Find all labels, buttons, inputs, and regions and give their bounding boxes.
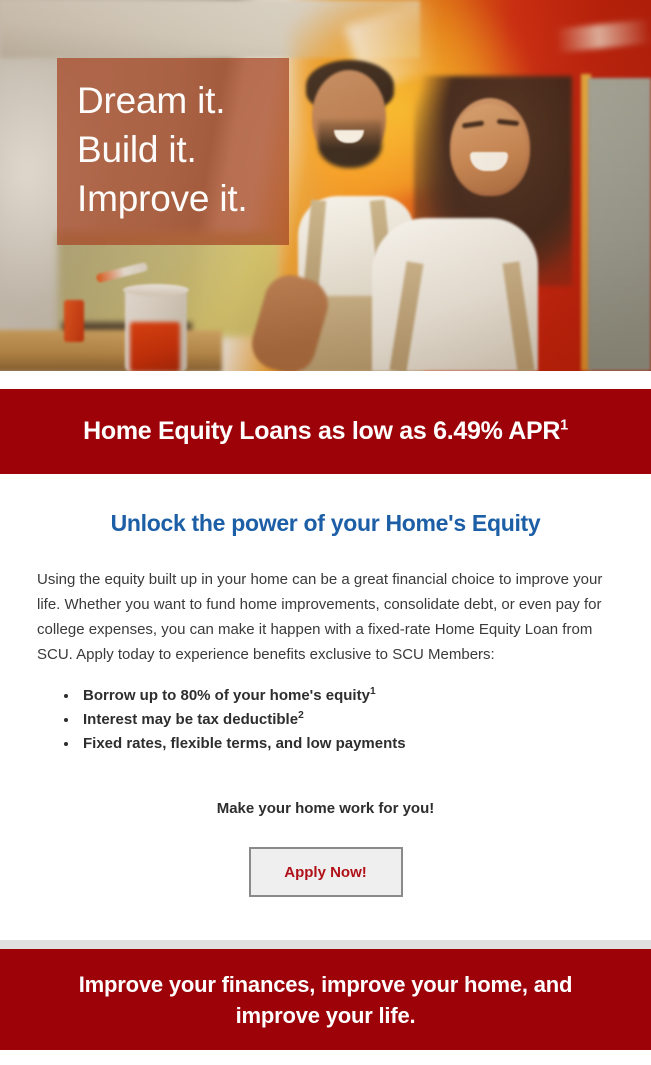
- benefit-footnote-marker: 2: [298, 710, 304, 721]
- benefit-footnote-marker: 1: [370, 686, 376, 697]
- apply-now-button[interactable]: Apply Now!: [249, 847, 403, 897]
- rate-banner-text: Home Equity Loans as low as 6.49% APR1: [83, 417, 568, 446]
- tagline-text: Make your home work for you!: [37, 800, 614, 817]
- hero-caption-line-3: Improve it.: [77, 174, 289, 223]
- benefit-label: Borrow up to 80% of your home's equity: [83, 687, 370, 704]
- footer-divider: [0, 940, 651, 949]
- hero-banner-spacer: [0, 371, 651, 389]
- list-item: Borrow up to 80% of your home's equity1: [79, 684, 614, 708]
- intro-paragraph: Using the equity built up in your home c…: [37, 567, 614, 667]
- hero-caption-box: Dream it. Build it. Improve it.: [57, 58, 289, 245]
- main-content: Unlock the power of your Home's Equity U…: [0, 474, 651, 940]
- benefit-label: Interest may be tax deductible: [83, 711, 298, 728]
- cta-container: Apply Now!: [37, 847, 614, 940]
- rate-banner-label: Home Equity Loans as low as 6.49% APR: [83, 417, 560, 445]
- footer-banner-text: Improve your finances, improve your home…: [0, 969, 651, 1031]
- hero-caption-line-1: Dream it.: [77, 76, 289, 125]
- hero-banner: Dream it. Build it. Improve it.: [0, 0, 651, 371]
- list-item: Fixed rates, flexible terms, and low pay…: [79, 732, 614, 756]
- page-title: Unlock the power of your Home's Equity: [37, 474, 614, 543]
- hero-caption-line-2: Build it.: [77, 125, 289, 174]
- benefits-list: Borrow up to 80% of your home's equity1 …: [37, 684, 614, 756]
- footer-banner: Improve your finances, improve your home…: [0, 949, 651, 1050]
- benefit-label: Fixed rates, flexible terms, and low pay…: [83, 735, 406, 752]
- rate-banner-footnote-marker: 1: [560, 418, 568, 434]
- list-item: Interest may be tax deductible2: [79, 708, 614, 732]
- rate-banner: Home Equity Loans as low as 6.49% APR1: [0, 389, 651, 474]
